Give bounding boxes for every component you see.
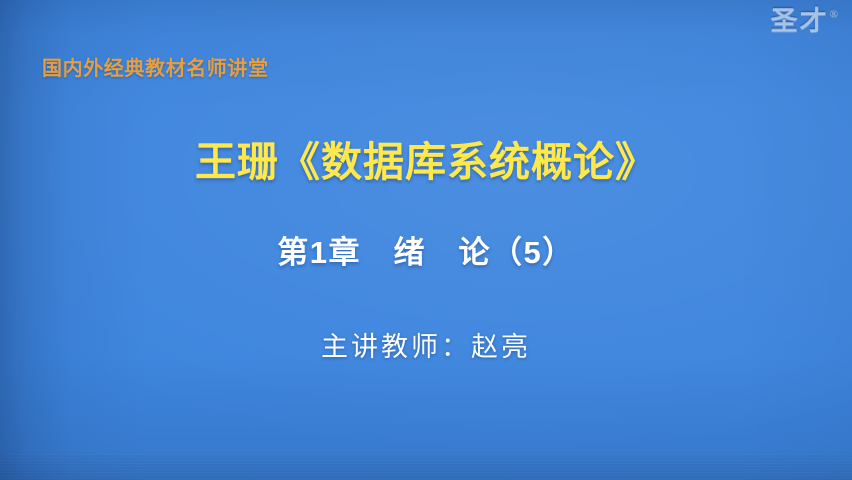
presenter-line: 主讲教师：赵亮 <box>0 331 852 363</box>
chapter-subtitle: 第1章 绪 论（5） <box>0 235 852 272</box>
title-stack: 王珊《数据库系统概论》 第1章 绪 论（5） 主讲教师：赵亮 <box>0 0 852 480</box>
lecture-title-slide: 圣才 ® 国内外经典教材名师讲堂 王珊《数据库系统概论》 第1章 绪 论（5） … <box>0 0 852 480</box>
page-title: 王珊《数据库系统概论》 <box>0 139 852 187</box>
